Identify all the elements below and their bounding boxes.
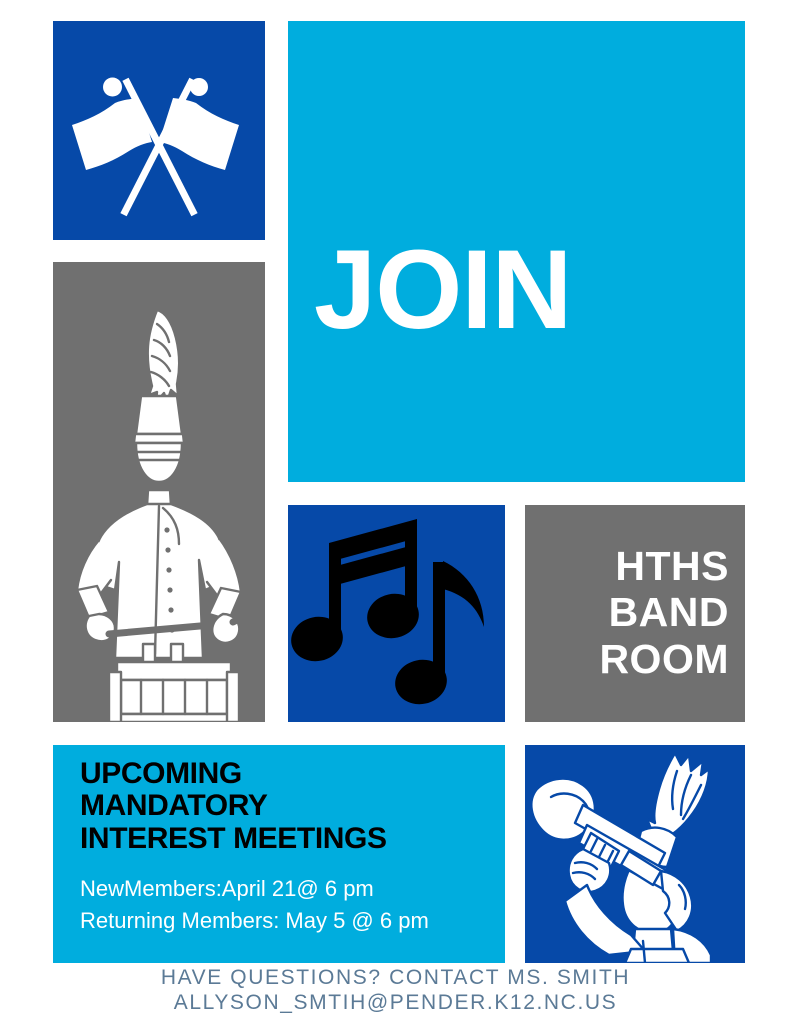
band-room-tile: HTHS BAND ROOM — [525, 505, 745, 722]
band-room-line-1: HTHS — [599, 543, 729, 589]
trumpet-player-tile — [525, 745, 745, 963]
meetings-heading: UPCOMING MANDATORY INTEREST MEETINGS — [80, 758, 387, 855]
meetings-heading-line-1: UPCOMING — [80, 758, 387, 790]
trumpet-player-icon — [525, 745, 745, 963]
band-room-label: HTHS BAND ROOM — [599, 543, 729, 682]
drummer-tile — [53, 262, 265, 722]
meeting-detail-new-members: NewMembers:April 21@ 6 pm — [80, 873, 429, 905]
marching-band-drummer-icon — [53, 262, 265, 722]
meeting-detail-returning-members: Returning Members: May 5 @ 6 pm — [80, 905, 429, 937]
footer-text: HAVE QUESTIONS? CONTACT MS. SMITH ALLYSO… — [0, 966, 791, 1015]
band-room-line-2: BAND — [599, 589, 729, 635]
poster-canvas: JOIN BAND AT HTHS — [0, 0, 791, 1024]
page-title: JOIN BAND AT HTHS — [314, 23, 634, 482]
crossed-flags-icon — [53, 21, 265, 240]
footer-line-question: HAVE QUESTIONS? CONTACT MS. SMITH — [0, 966, 791, 991]
band-room-line-3: ROOM — [599, 636, 729, 682]
headline-line-1: JOIN — [314, 237, 634, 344]
meetings-heading-line-3: INTEREST MEETINGS — [80, 823, 387, 855]
footer-line-email: ALLYSON_SMTIH@PENDER.K12.NC.US — [0, 991, 791, 1016]
music-notes-icon — [288, 505, 505, 722]
crossed-flags-tile — [53, 21, 265, 240]
music-notes-tile — [288, 505, 505, 722]
headline-tile: JOIN BAND AT HTHS — [288, 21, 745, 482]
footer-contact: HAVE QUESTIONS? CONTACT MS. SMITH ALLYSO… — [0, 966, 791, 1024]
meetings-heading-line-2: MANDATORY — [80, 790, 387, 822]
meetings-tile: UPCOMING MANDATORY INTEREST MEETINGS New… — [53, 745, 505, 963]
meetings-details: NewMembers:April 21@ 6 pm Returning Memb… — [80, 873, 429, 938]
